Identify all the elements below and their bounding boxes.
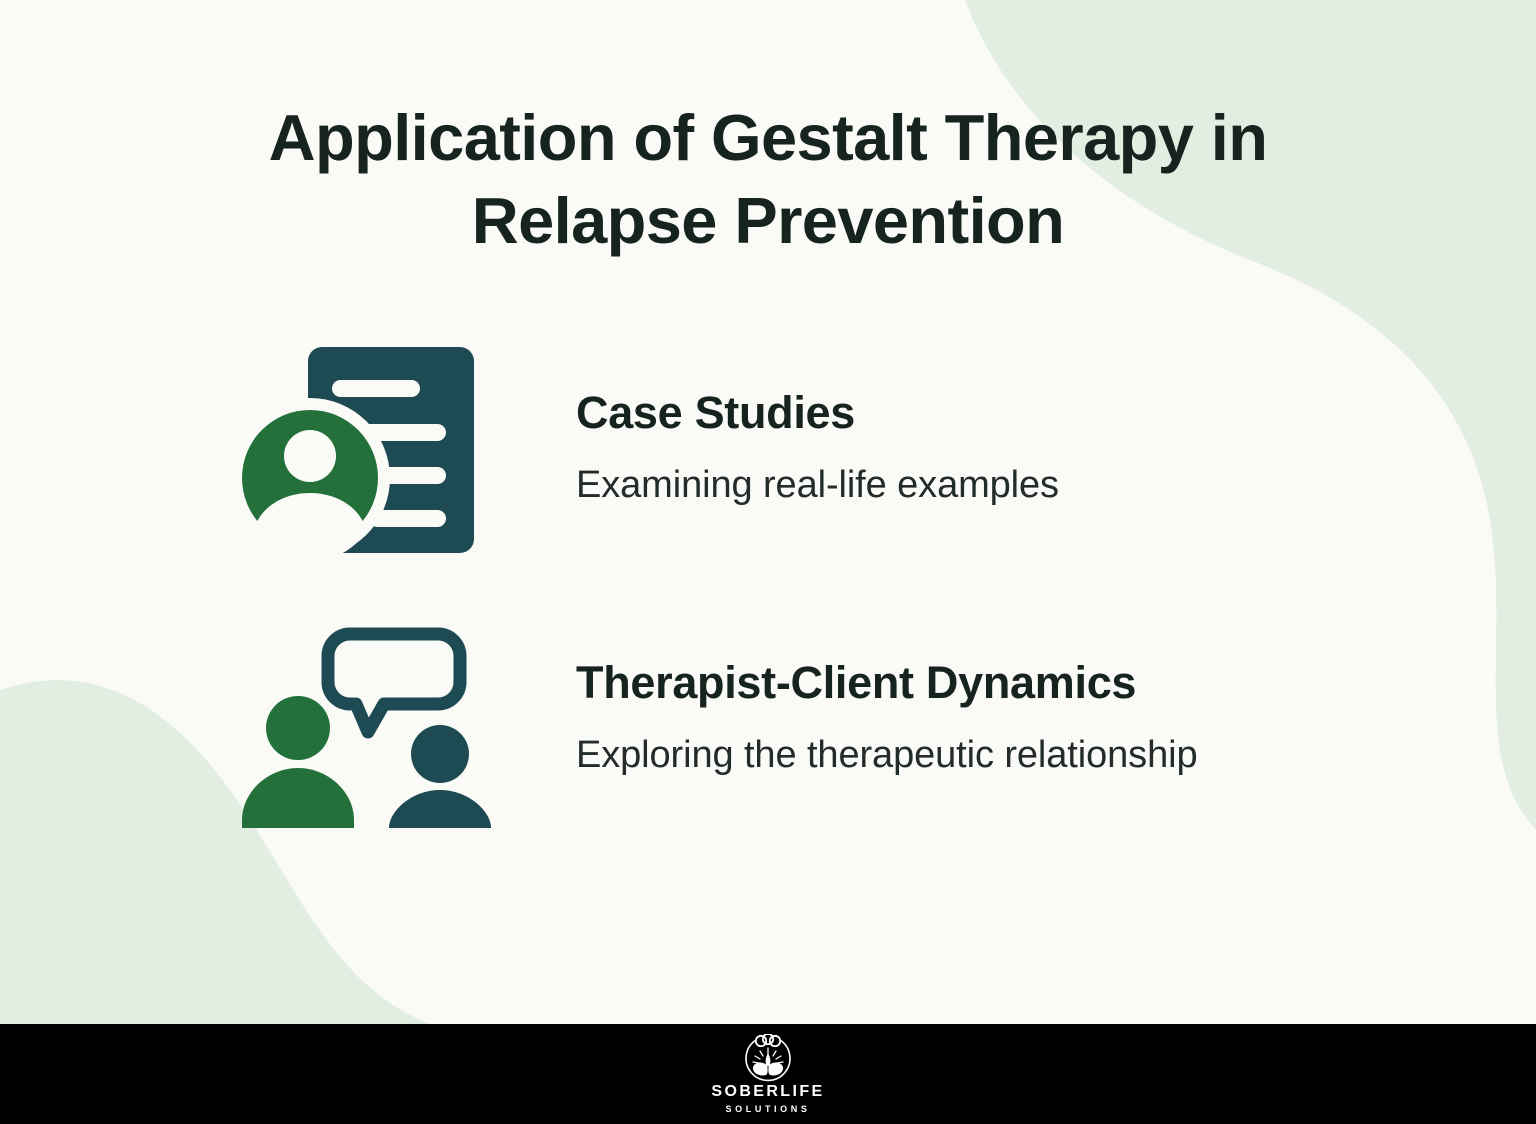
page-title: Application of Gestalt Therapy in Relaps…	[118, 96, 1418, 262]
footer-bar: SOBERLIFE SOLUTIONS	[0, 1024, 1536, 1124]
feature-icon-wrapper	[232, 620, 494, 838]
feature-text-block: Therapist-Client Dynamics Exploring the …	[494, 620, 1412, 777]
footer-brand-name: SOBERLIFE	[711, 1084, 824, 1100]
feature-title: Case Studies	[576, 388, 1412, 438]
feature-subtitle: Examining real-life examples	[576, 464, 1412, 508]
page-title-line-1: Application of Gestalt Therapy in	[118, 96, 1418, 179]
page-title-line-2: Relapse Prevention	[118, 179, 1418, 262]
footer-tagline: SOLUTIONS	[726, 1105, 811, 1114]
feature-item-therapist-client-dynamics: Therapist-Client Dynamics Exploring the …	[232, 620, 1412, 838]
feature-text-block: Case Studies Examining real-life example…	[494, 336, 1412, 507]
feature-icon-wrapper	[232, 336, 494, 566]
two-people-speech-bubble-icon	[232, 620, 494, 838]
feature-subtitle: Exploring the therapeutic relationship	[576, 734, 1412, 778]
slide: Application of Gestalt Therapy in Relaps…	[0, 0, 1536, 1124]
feature-item-case-studies: Case Studies Examining real-life example…	[232, 336, 1412, 566]
soberlife-emblem-icon	[740, 1034, 796, 1082]
case-file-person-icon	[232, 336, 494, 566]
feature-title: Therapist-Client Dynamics	[576, 658, 1412, 708]
